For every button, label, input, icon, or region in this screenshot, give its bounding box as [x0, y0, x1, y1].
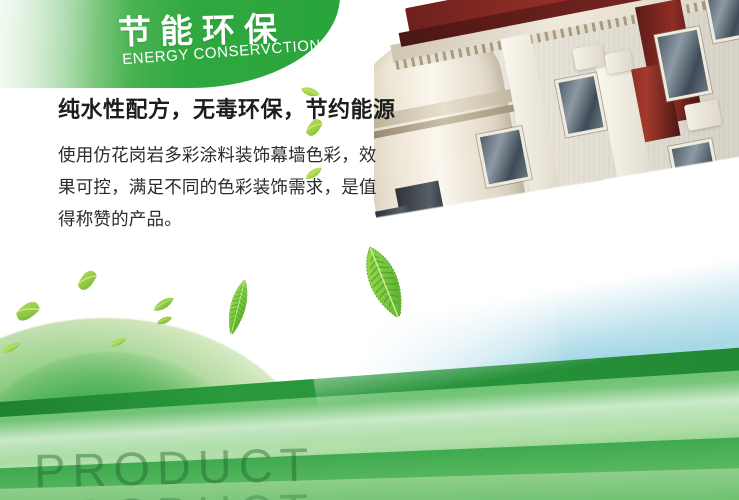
copy-body: 使用仿花岗岩多彩涂料装饰幕墙色彩，效果可控，满足不同的色彩装饰需求，是值得称赞的…	[58, 140, 388, 236]
leaf-small-left-icon	[150, 295, 177, 316]
product-banner-page: PRODUCT PRODUCT 节能环保 ENERGY CONSERVCTION…	[0, 0, 739, 500]
copy-block: 纯水性配方，无毒环保，节约能源 使用仿花岗岩多彩涂料装饰幕墙色彩，效果可控，满足…	[58, 92, 388, 236]
leaf-float-a-icon	[76, 266, 99, 299]
copy-heading: 纯水性配方，无毒环保，节约能源	[58, 92, 388, 124]
